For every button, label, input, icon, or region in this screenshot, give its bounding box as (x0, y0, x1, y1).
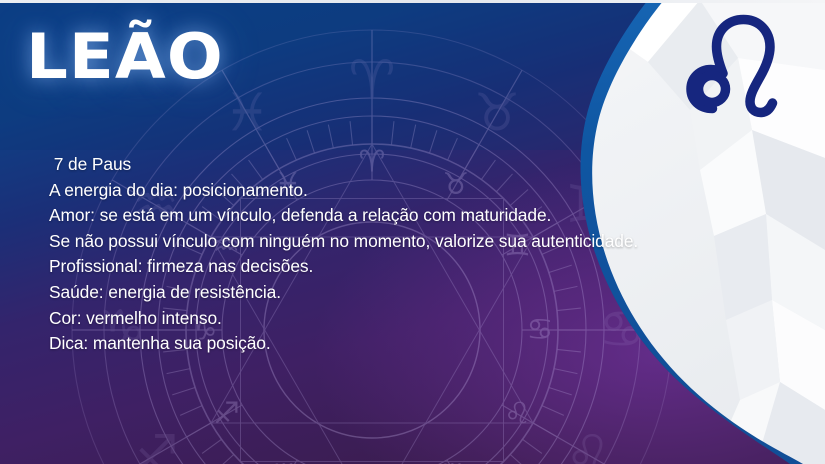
reading-line-card: 7 de Paus (49, 152, 749, 178)
reading-line-color: Cor: vermelho intenso. (49, 306, 749, 332)
reading-line-love-alt: Se não possui vínculo com ninguém no mom… (49, 229, 749, 255)
horoscope-card: ♈ ♉ ♊ ♋ ♌ ♍ ♎ ♏ ♐ ♑ ♒ ♓ ♈ ♉ ♊ (0, 0, 825, 464)
reading-line-tip: Dica: mantenha sua posição. (49, 331, 749, 357)
reading-line-health: Saúde: energia de resistência. (49, 280, 749, 306)
page-title: LEÃO (26, 26, 224, 88)
reading-line-professional: Profissional: firmeza nas decisões. (49, 254, 749, 280)
reading-line-energy: A energia do dia: posicionamento. (49, 178, 749, 204)
horoscope-reading: 7 de Paus A energia do dia: posicionamen… (49, 152, 749, 357)
leo-zodiac-glyph-icon (683, 14, 787, 126)
reading-line-love: Amor: se está em um vínculo, defenda a r… (49, 203, 749, 229)
